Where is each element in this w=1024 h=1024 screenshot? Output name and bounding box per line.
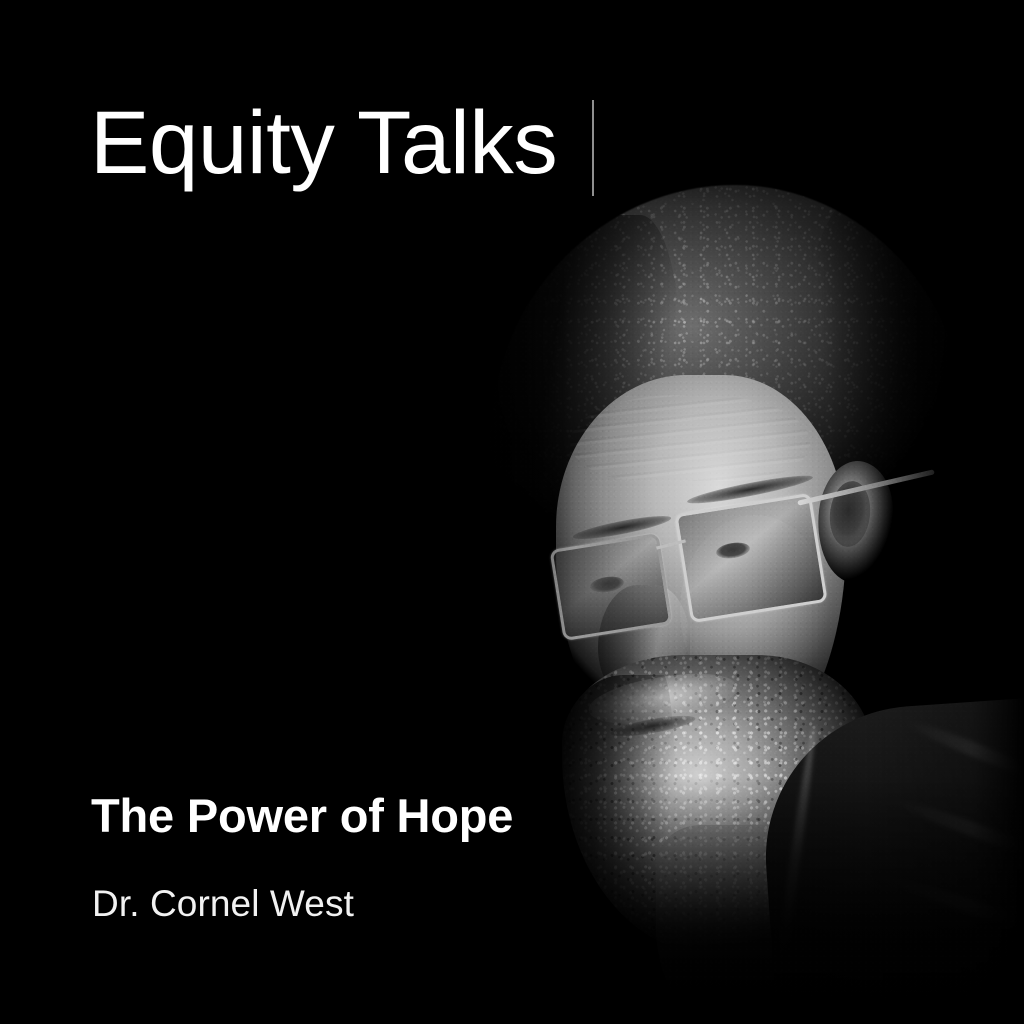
eyeglasses-icon xyxy=(510,481,870,631)
guest-name: Dr. Cornel West xyxy=(92,885,354,922)
lens-left xyxy=(549,533,672,641)
lens-right xyxy=(674,493,828,623)
subject-head xyxy=(470,185,1024,905)
forehead-lines xyxy=(570,395,810,481)
episode-title: The Power of Hope xyxy=(91,792,513,839)
show-title: Equity Talks xyxy=(90,98,557,187)
podcast-cover-art: Equity Talks The Power of Hope Dr. Corne… xyxy=(0,0,1024,1024)
title-divider-rule xyxy=(592,100,594,196)
